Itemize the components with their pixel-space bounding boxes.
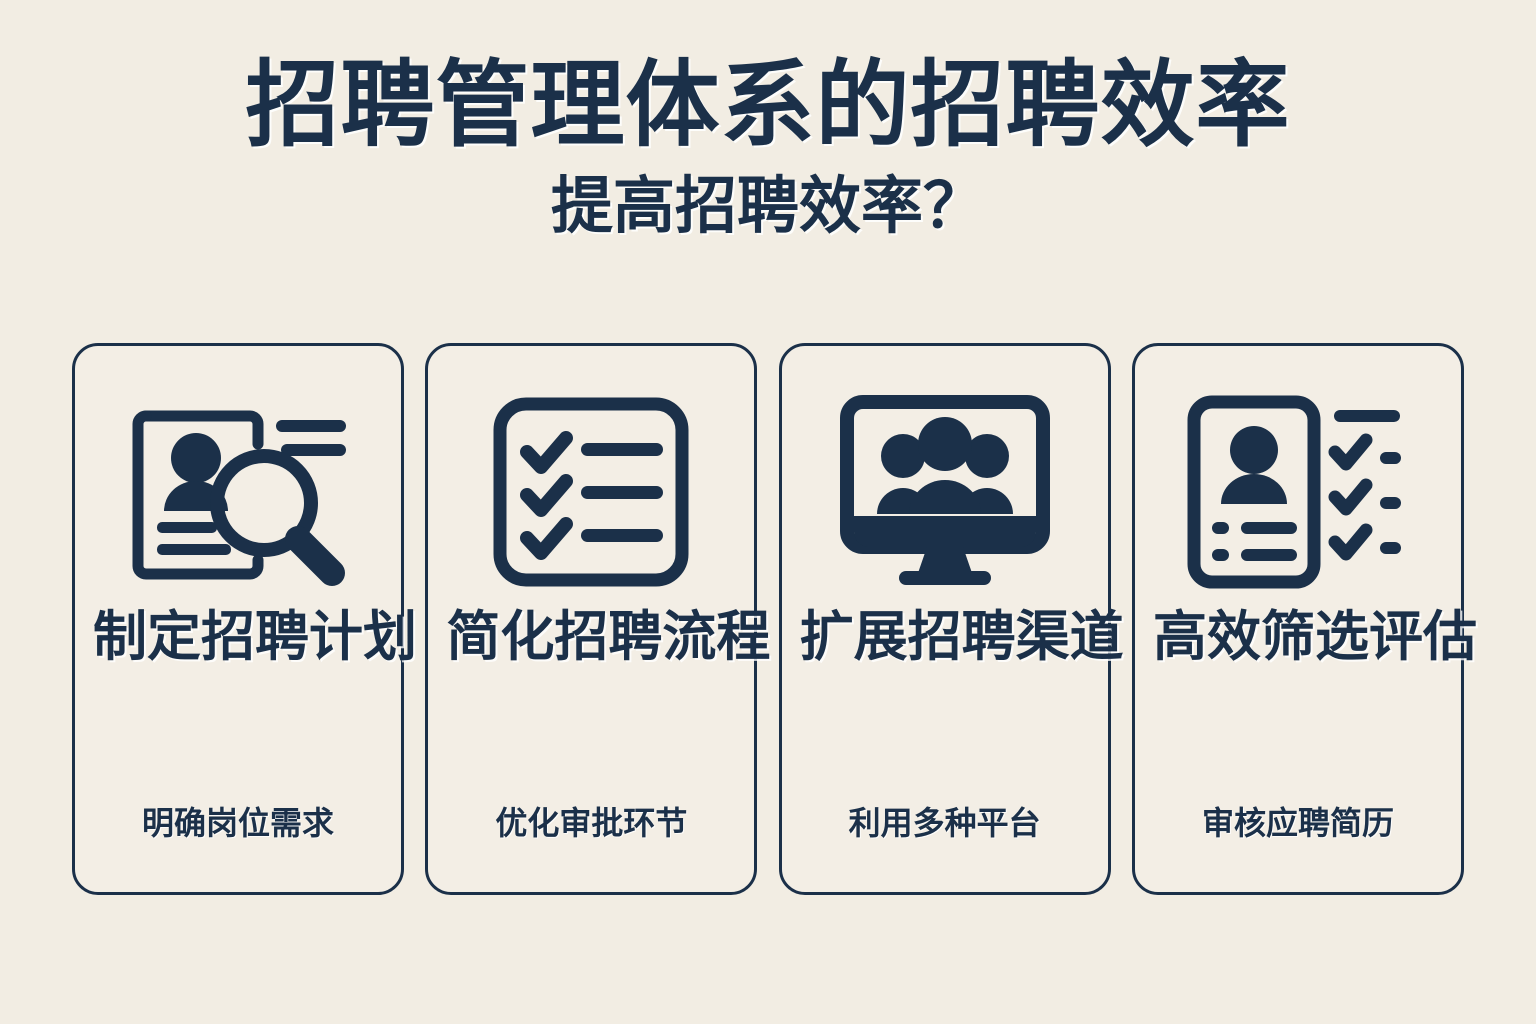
card-recruitment-plan[interactable]: 制定招聘计划 明确岗位需求 xyxy=(72,343,404,895)
card-simplify-process[interactable]: 简化招聘流程 优化审批环节 xyxy=(425,343,757,895)
monitor-people-icon xyxy=(830,392,1060,592)
card-efficient-screening[interactable]: 高效筛选评估 审核应聘简历 xyxy=(1132,343,1464,895)
infographic-page: 招聘管理体系的招聘效率 提高招聘效率？ xyxy=(0,0,1536,1024)
card-title: 扩展招聘渠道 xyxy=(800,592,1090,670)
card-expand-channels[interactable]: 扩展招聘渠道 利用多种平台 xyxy=(779,343,1111,895)
resume-search-icon xyxy=(123,392,353,592)
card-title: 制定招聘计划 xyxy=(93,592,383,670)
card-title: 简化招聘流程 xyxy=(446,592,736,670)
card-subtitle: 优化审批环节 xyxy=(441,804,741,842)
page-title: 招聘管理体系的招聘效率 xyxy=(0,0,1536,155)
page-subtitle: 提高招聘效率？ xyxy=(0,155,1536,241)
card-subtitle: 审核应聘简历 xyxy=(1148,804,1448,842)
card-subtitle: 明确岗位需求 xyxy=(88,804,388,842)
card-subtitle: 利用多种平台 xyxy=(795,804,1095,842)
checklist-icon xyxy=(476,392,706,592)
card-title: 高效筛选评估 xyxy=(1153,592,1443,670)
card-row: 制定招聘计划 明确岗位需求 简化招聘流程 优化审 xyxy=(72,343,1464,895)
resume-checklist-icon xyxy=(1183,392,1413,592)
header: 招聘管理体系的招聘效率 提高招聘效率？ xyxy=(0,0,1536,241)
